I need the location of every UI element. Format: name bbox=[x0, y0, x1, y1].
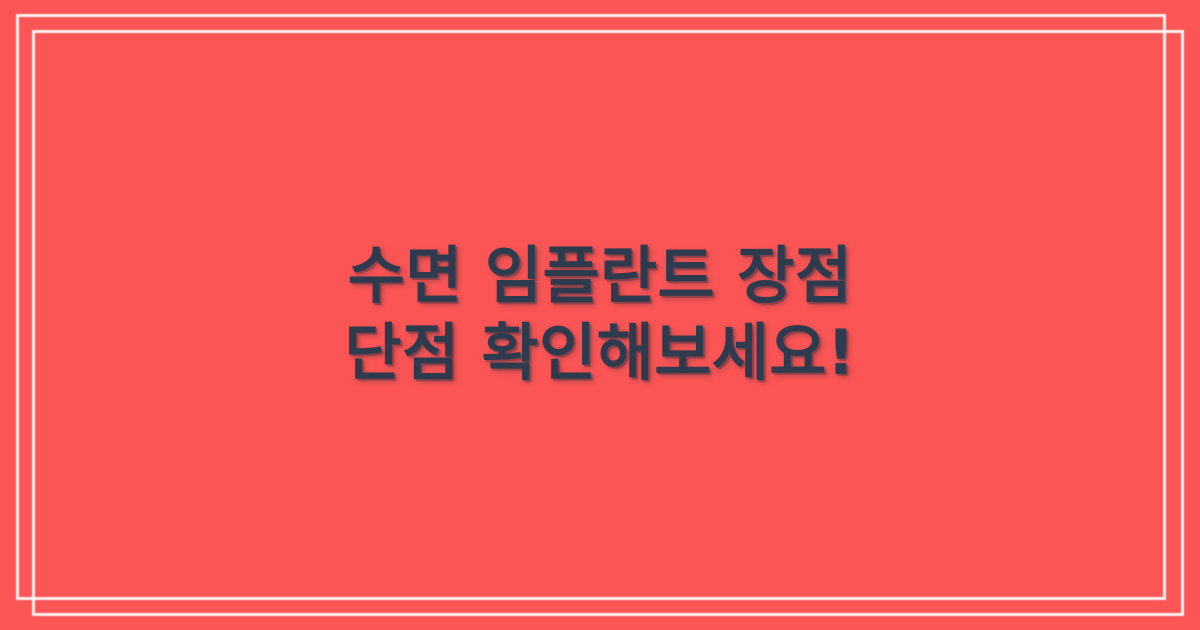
headline-line-1: 수면 임플란트 장점 bbox=[348, 240, 853, 313]
headline-line-2: 단점 확인해보세요! bbox=[344, 317, 855, 390]
promo-banner: 수면 임플란트 장점 단점 확인해보세요! bbox=[0, 0, 1200, 630]
headline-block: 수면 임플란트 장점 단점 확인해보세요! bbox=[0, 0, 1200, 630]
